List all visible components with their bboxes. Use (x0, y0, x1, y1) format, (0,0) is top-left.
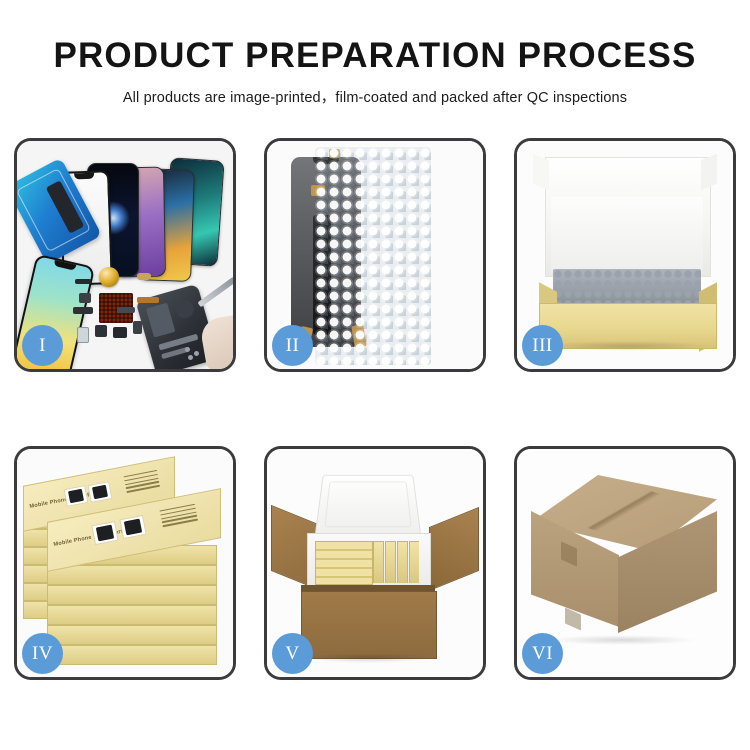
yellow-box-1 (373, 541, 384, 583)
small-part-b (137, 273, 151, 280)
step-badge-3: III (522, 325, 563, 366)
step-badge-5: V (272, 633, 313, 674)
lid-flap-left (533, 154, 549, 190)
process-step-3[interactable]: III (514, 138, 736, 372)
process-step-2[interactable]: II (264, 138, 486, 372)
foam-lid (315, 475, 422, 536)
small-part-j (79, 293, 91, 303)
yellow-box-4 (409, 541, 419, 583)
page-header: PRODUCT PREPARATION PROCESS All products… (0, 0, 750, 107)
step-badge-2: II (272, 325, 313, 366)
process-step-1[interactable]: I (14, 138, 236, 372)
page-title: PRODUCT PREPARATION PROCESS (0, 38, 750, 75)
cover-detail-2 (173, 298, 195, 320)
lid-window-screen-b1 (68, 489, 84, 503)
gold-coil-part (99, 267, 119, 287)
step-badge-6: VI (522, 633, 563, 674)
small-part-h (133, 321, 142, 334)
small-part-d (137, 297, 159, 303)
lid-window-screen-f2 (124, 519, 142, 536)
stacked-box-r2 (47, 565, 217, 585)
stacked-box-r5 (47, 625, 217, 645)
box-shadow (543, 341, 711, 351)
screw-3 (188, 355, 193, 360)
carton-front-face (301, 591, 437, 659)
small-part-c (73, 307, 93, 314)
small-part-e (77, 327, 89, 343)
small-part-a (75, 279, 91, 284)
lid-window-screen-b2 (92, 485, 108, 499)
screw-2 (194, 351, 199, 356)
small-part-f (95, 325, 107, 337)
small-part-i (117, 307, 135, 313)
screw-1 (185, 347, 190, 352)
stacked-box-r4 (47, 605, 217, 625)
cover-detail-1 (146, 303, 175, 338)
loose-screws (185, 347, 205, 359)
white-foam-sheet (551, 197, 703, 273)
lid-window-screen-f1 (96, 525, 114, 542)
step-badge-1: I (22, 325, 63, 366)
small-part-g (113, 327, 127, 338)
process-step-grid: I II III (14, 138, 736, 680)
stacked-box-r3 (47, 585, 217, 605)
sealed-carton-shadow (547, 635, 697, 645)
step-badge-4: IV (22, 633, 63, 674)
yellow-boxes-row (317, 541, 419, 583)
stacked-box-r6 (47, 645, 217, 665)
carton-shadow (307, 653, 431, 663)
yellow-box-3 (397, 541, 408, 583)
process-step-4[interactable]: Mobile Phone Spare Parts Mobile Phone Sp… (14, 446, 236, 680)
page-subtitle: All products are image-printed，film-coat… (0, 86, 750, 107)
process-step-5[interactable]: V (264, 446, 486, 680)
bubble-highlights (315, 147, 431, 365)
process-step-6[interactable]: VI (514, 446, 736, 680)
yellow-box-2 (385, 541, 396, 583)
